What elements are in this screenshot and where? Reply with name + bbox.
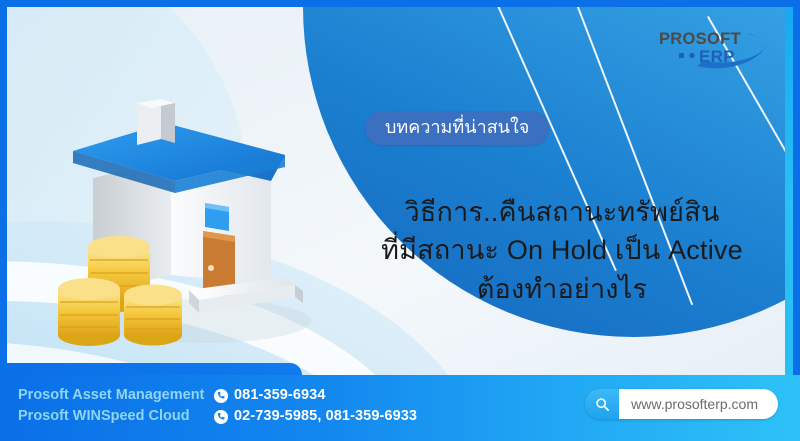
- product-label-winspeed-cloud: Prosoft WINSpeed Cloud: [18, 406, 214, 427]
- search-icon[interactable]: [585, 389, 619, 419]
- house-with-coins-illustration: [53, 85, 343, 365]
- page-title: วิธีการ..คืนสถานะทรัพย์สิน ที่มีสถานะ On…: [337, 193, 787, 308]
- coin-stack-left: [58, 278, 120, 346]
- footer-bar: Prosoft Asset Management 081-359-6934 Pr…: [0, 375, 800, 441]
- phone-icon: [214, 410, 228, 424]
- promo-banner: PROSOFT ERP: [0, 0, 800, 441]
- prosoft-erp-logo: PROSOFT ERP: [653, 25, 771, 71]
- website-url-text[interactable]: www.prosofterp.com: [619, 389, 778, 419]
- svg-text:PROSOFT: PROSOFT: [659, 30, 741, 48]
- contact-block: Prosoft Asset Management 081-359-6934 Pr…: [18, 385, 417, 427]
- coin-stack-right: [124, 285, 182, 346]
- website-url-pill[interactable]: www.prosofterp.com: [585, 389, 778, 419]
- contact-row-winspeed-cloud: Prosoft WINSpeed Cloud 02-739-5985, 081-…: [18, 406, 417, 427]
- headline-line-1: วิธีการ..คืนสถานะทรัพย์สิน: [337, 193, 787, 231]
- phone-number-winspeed-cloud[interactable]: 02-739-5985, 081-359-6933: [234, 406, 417, 427]
- headline-line-2: ที่มีสถานะ On Hold เป็น Active: [337, 231, 787, 269]
- headline-line-3: ต้องทำอย่างไร: [337, 270, 787, 308]
- article-badge: บทความที่น่าสนใจ: [365, 111, 549, 145]
- product-label-asset-management: Prosoft Asset Management: [18, 385, 214, 406]
- phone-number-asset-management[interactable]: 081-359-6934: [234, 385, 326, 406]
- contact-row-asset-management: Prosoft Asset Management 081-359-6934: [18, 385, 417, 406]
- phone-icon: [214, 389, 228, 403]
- footer-bar-step: [0, 363, 302, 375]
